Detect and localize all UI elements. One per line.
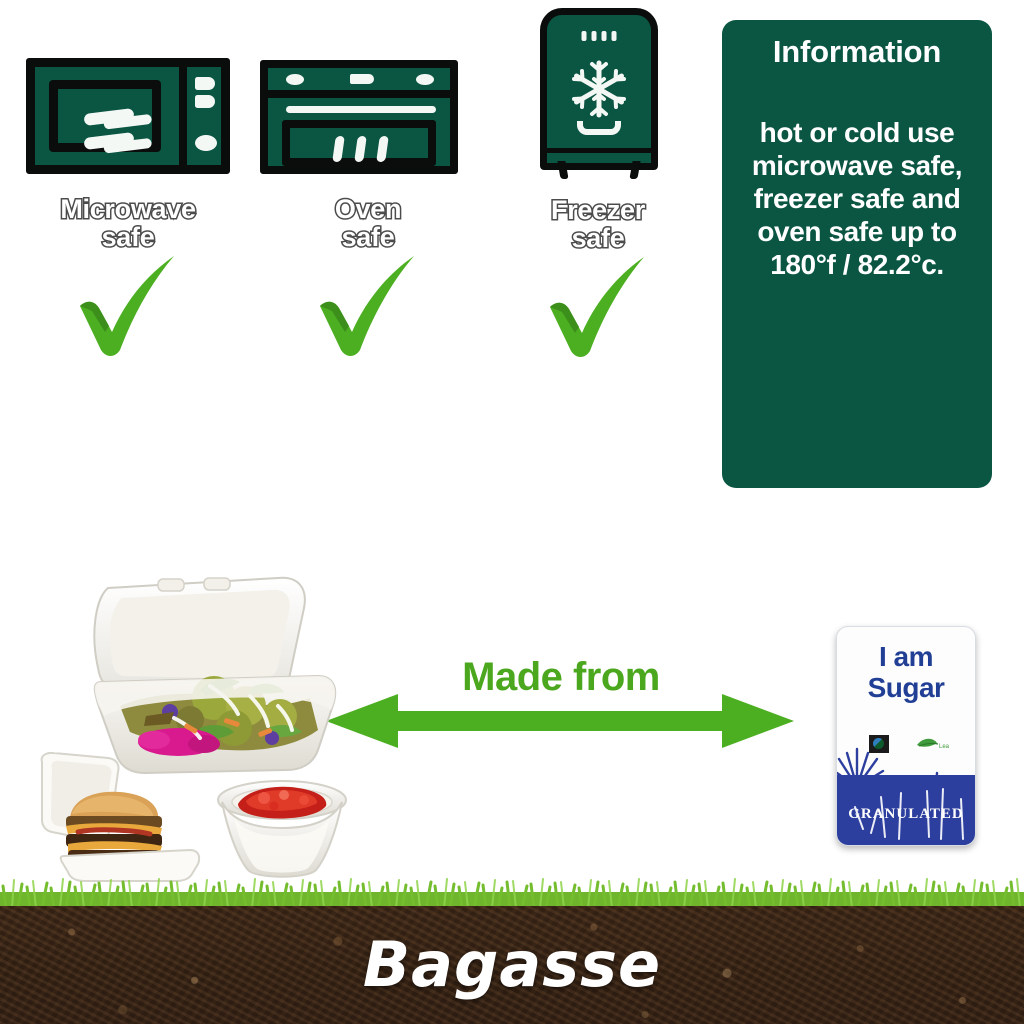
microwave-icon [8,10,248,195]
steam-wave-icon [83,132,134,150]
feature-label-oven: Oven safe [248,195,488,252]
freezer-door-divider [547,148,651,153]
grass-strip [0,878,1024,908]
information-panel: Information hot or cold use microwave sa… [722,20,992,488]
heat-wave-icon [354,136,367,162]
microwave-window [49,80,161,152]
oven-knob-icon [350,74,374,84]
green-checkmark-icon [478,255,718,365]
green-checkmark-icon [248,254,488,364]
heat-wave-icon [376,136,389,162]
feature-freezer: Freezer safe [478,0,718,365]
freezer-icon [478,0,718,196]
green-checkmark-icon [8,254,248,364]
bagasse-burger-box [38,752,203,882]
freezer-handle-icon [577,121,621,135]
freezer-leg [557,161,568,179]
oven-panel-divider [268,90,450,98]
oven-knob-icon [416,74,434,85]
microwave-button-icon [195,77,215,90]
information-body-text: hot or cold use microwave safe, freezer … [732,116,982,281]
sugar-package-face: I am Sugar Leaf [836,626,976,846]
oven-icon [248,10,488,195]
bagasse-sauce-cup [212,778,352,883]
oven-body [260,60,458,174]
sugar-package-title: I am Sugar [837,641,975,704]
feature-label-freezer: Freezer safe [478,196,718,253]
sugarcane-illustration [837,741,975,845]
freezer-leg [629,161,640,179]
infographic-canvas: Microwave safe [0,0,1024,1024]
microwave-dial-icon [195,135,217,151]
feature-microwave: Microwave safe [8,10,248,364]
bagasse-wordmark: Bagasse [0,928,1024,1001]
feature-label-microwave: Microwave safe [8,195,248,252]
freezer-body [540,8,658,170]
sugar-package-granulated-label: GRANULATED [837,806,975,823]
oven-knob-icon [286,74,304,85]
steam-wave-icon [83,108,134,126]
freezer-vents-icon [582,31,617,41]
oven-handle-icon [286,106,436,113]
microwave-button-icon [195,95,215,108]
double-headed-arrow-icon [326,692,794,755]
microwave-body [26,58,230,174]
information-title: Information [732,34,982,70]
microwave-control-panel [179,67,221,165]
sugar-package: I am Sugar Leaf [836,626,976,846]
heat-wave-icon [332,136,345,162]
snowflake-icon [567,57,631,126]
oven-door [282,120,436,166]
feature-oven: Oven safe [248,10,488,364]
